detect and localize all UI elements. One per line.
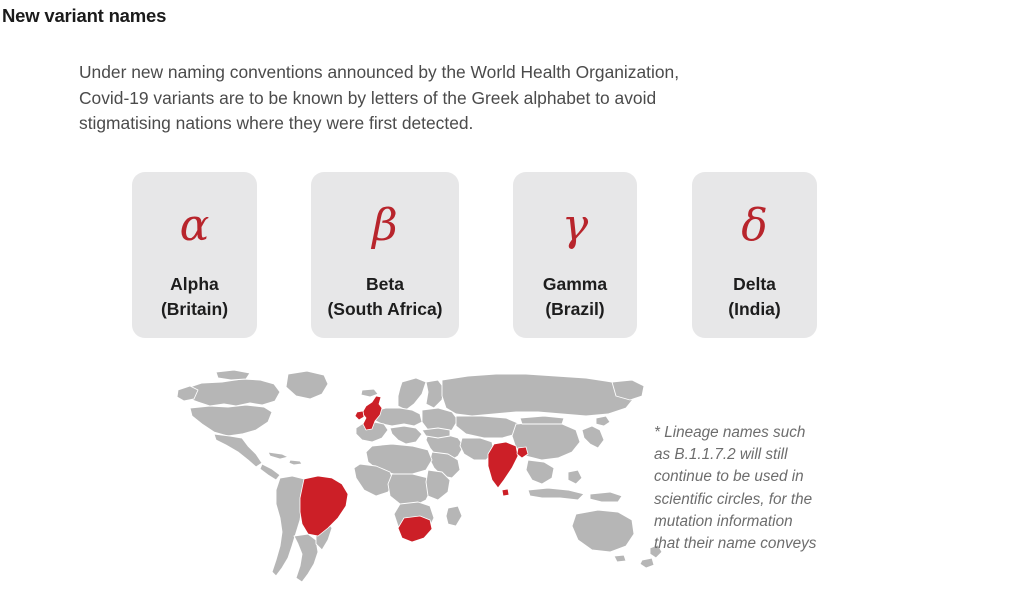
country-canada-arctic — [216, 370, 250, 380]
highlight-country-sri-lanka — [502, 489, 509, 496]
variant-place: (South Africa) — [327, 297, 442, 322]
greek-letter-alpha-icon: α — [180, 200, 210, 252]
country-united-states — [190, 405, 272, 436]
country-scandinavia — [398, 378, 426, 410]
variant-place: (Britain) — [161, 297, 228, 322]
country-canada — [184, 379, 280, 406]
greek-letter-gamma-icon: γ — [562, 200, 588, 252]
footnote-line-2: as B.1.1.7.2 will still — [654, 444, 869, 466]
country-turkey — [422, 428, 450, 438]
intro-line-1: Under new naming conventions announced b… — [79, 60, 869, 86]
variant-card-beta[interactable]: β Beta (South Africa) — [311, 172, 459, 338]
country-central-africa — [388, 474, 432, 506]
variant-label-group: Alpha (Britain) — [161, 272, 228, 322]
country-new-guinea — [590, 492, 622, 502]
variant-name: Delta — [728, 272, 781, 297]
intro-paragraph: Under new naming conventions announced b… — [79, 60, 869, 137]
country-mexico — [214, 434, 262, 467]
footnote-line-4: scientific circles, for the — [654, 489, 869, 511]
country-madagascar — [446, 506, 462, 526]
country-hispaniola — [289, 460, 302, 465]
greek-letter-beta-icon: β — [372, 200, 397, 252]
variant-card-alpha[interactable]: α Alpha (Britain) — [132, 172, 257, 338]
variant-card-delta[interactable]: δ Delta (India) — [692, 172, 817, 338]
country-cuba — [268, 452, 288, 459]
world-map-svg — [176, 368, 676, 593]
country-australia — [572, 510, 634, 552]
footnote-line-6: that their name conveys — [654, 533, 869, 555]
country-korea-japan — [582, 426, 604, 448]
intro-line-3: stigmatising nations where they were fir… — [79, 111, 869, 137]
variant-card-list: α Alpha (Britain) β Beta (South Africa) … — [0, 172, 1024, 340]
country-iceland — [361, 389, 378, 397]
map-land-group — [177, 370, 662, 582]
variant-place: (Brazil) — [543, 297, 607, 322]
country-central-asia — [456, 416, 520, 438]
highlight-country-south-africa — [398, 516, 432, 542]
country-greenland — [286, 371, 328, 399]
highlight-country-brazil — [300, 476, 348, 536]
country-tasmania — [614, 555, 626, 562]
world-map — [176, 368, 676, 593]
country-philippines — [568, 470, 582, 484]
greek-letter-delta-icon: δ — [741, 200, 768, 252]
country-japan-north — [596, 416, 610, 426]
page-title: New variant names — [2, 5, 166, 27]
footnote-line-3: continue to be used in — [654, 466, 869, 488]
country-finland-baltics — [426, 380, 444, 408]
intro-line-2: Covid-19 variants are to be known by let… — [79, 86, 869, 112]
variant-name: Alpha — [161, 272, 228, 297]
variant-name: Beta — [327, 272, 442, 297]
country-south-america-south — [294, 534, 318, 582]
variant-place: (India) — [728, 297, 781, 322]
variant-name: Gamma — [543, 272, 607, 297]
variant-label-group: Delta (India) — [728, 272, 781, 322]
highlight-country-india — [488, 442, 518, 488]
footnote: * Lineage names such as B.1.1.7.2 will s… — [654, 422, 869, 555]
country-mongolia — [520, 416, 564, 424]
variant-label-group: Gamma (Brazil) — [543, 272, 607, 322]
country-indonesia — [528, 488, 584, 500]
variant-card-gamma[interactable]: γ Gamma (Brazil) — [513, 172, 637, 338]
country-italy-balkans — [390, 426, 422, 444]
country-new-zealand-south — [640, 558, 654, 568]
footnote-line-1: * Lineage names such — [654, 422, 869, 444]
country-russia — [442, 374, 634, 416]
country-central-america — [260, 464, 280, 480]
highlight-country-britain-ireland — [355, 411, 364, 420]
country-southeast-asia — [526, 460, 554, 484]
variant-label-group: Beta (South Africa) — [327, 272, 442, 322]
footnote-line-5: mutation information — [654, 511, 869, 533]
